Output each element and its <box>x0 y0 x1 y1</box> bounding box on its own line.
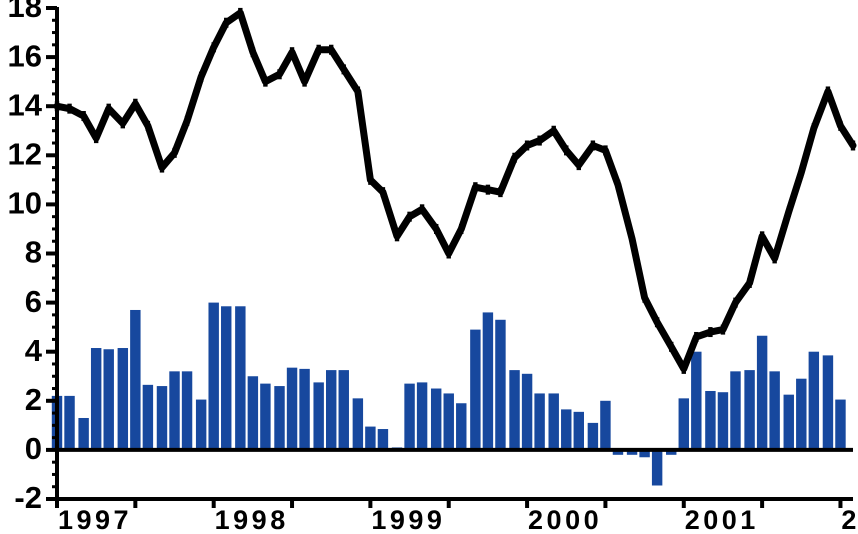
bar <box>235 306 245 450</box>
bar <box>378 429 388 450</box>
bar <box>404 384 414 450</box>
y-tick-label: 6 <box>25 284 42 319</box>
bar <box>365 427 375 450</box>
data-point-marker <box>211 42 215 52</box>
chart-canvas: -202468101214161819971998199920002001200… <box>0 0 858 534</box>
data-point-marker <box>55 101 59 111</box>
data-point-marker <box>577 160 581 170</box>
bar <box>561 409 571 450</box>
data-point-marker <box>251 47 255 57</box>
bar <box>274 386 284 450</box>
data-point-marker <box>263 77 267 87</box>
data-point-marker <box>81 111 85 121</box>
y-tick-label: 2 <box>25 382 42 417</box>
data-point-marker <box>787 207 791 217</box>
bar <box>705 391 715 450</box>
y-tick-label: 10 <box>8 186 42 221</box>
bar <box>287 368 297 450</box>
data-point-marker <box>133 99 137 109</box>
bar <box>470 330 480 450</box>
y-tick-label: 18 <box>8 0 42 24</box>
data-point-marker <box>420 204 424 214</box>
data-point-marker <box>616 180 620 190</box>
bar <box>339 370 349 450</box>
data-point-marker <box>459 224 463 234</box>
bar <box>417 382 427 450</box>
bar <box>730 371 740 450</box>
x-axis-ticks: 199719981999200020012002 <box>57 499 858 534</box>
bar <box>431 389 441 450</box>
data-point-marker <box>669 342 673 352</box>
data-point-marker <box>747 278 751 288</box>
bar <box>157 386 167 450</box>
bar <box>549 393 559 449</box>
y-tick-label: 8 <box>25 235 42 270</box>
data-point-marker <box>498 187 502 197</box>
x-tick-label: 2002 <box>841 505 858 534</box>
data-point-marker <box>799 167 803 177</box>
data-point-marker <box>160 163 164 173</box>
bar <box>326 370 336 450</box>
data-point-marker <box>238 8 242 18</box>
data-point-marker <box>564 145 568 155</box>
data-point-marker <box>826 86 830 96</box>
data-point-marker <box>486 185 490 195</box>
data-point-marker <box>199 72 203 82</box>
data-point-marker <box>812 123 816 133</box>
data-point-marker <box>224 18 228 28</box>
bar <box>299 369 309 450</box>
line-series <box>57 13 853 369</box>
data-point-marker <box>694 332 698 342</box>
data-point-marker <box>721 325 725 335</box>
data-point-marker <box>185 116 189 126</box>
data-point-marker <box>316 45 320 55</box>
bar <box>104 349 114 450</box>
x-tick-label: 1997 <box>58 505 132 534</box>
bar <box>600 401 610 450</box>
bar <box>809 352 819 450</box>
data-point-marker <box>277 69 281 79</box>
data-point-marker <box>434 224 438 234</box>
bar <box>744 370 754 450</box>
bar <box>444 393 454 449</box>
data-point-marker <box>172 148 176 158</box>
bar <box>78 418 88 450</box>
bar <box>835 400 845 450</box>
x-tick-label: 1998 <box>215 505 289 534</box>
data-point-marker <box>708 327 712 337</box>
bar <box>248 376 258 450</box>
bar <box>221 306 231 450</box>
y-tick-label: -2 <box>14 480 42 515</box>
data-point-marker <box>381 187 385 197</box>
y-tick-label: 14 <box>8 87 43 122</box>
bar <box>691 352 701 450</box>
bar <box>130 310 140 450</box>
data-point-marker <box>630 234 634 244</box>
y-tick-label: 12 <box>8 136 42 171</box>
y-tick-label: 4 <box>25 333 43 368</box>
data-point-marker <box>473 182 477 192</box>
bar <box>208 303 218 450</box>
data-point-marker <box>67 104 71 114</box>
bar <box>353 398 363 450</box>
data-point-marker <box>682 364 686 374</box>
data-point-marker <box>121 118 125 128</box>
data-point-marker <box>772 253 776 263</box>
y-tick-label: 16 <box>8 38 42 73</box>
bar <box>456 403 466 450</box>
bar <box>796 379 806 450</box>
data-point-marker <box>591 140 595 150</box>
data-point-marker <box>525 140 529 150</box>
data-point-marker <box>368 175 372 185</box>
economic-indicator-chart: -202468101214161819971998199920002001200… <box>0 0 858 534</box>
x-tick-label: 2000 <box>528 505 602 534</box>
bar <box>679 398 689 450</box>
data-point-marker <box>342 64 346 74</box>
bar <box>495 320 505 450</box>
data-point-marker <box>356 86 360 96</box>
data-point-marker <box>290 47 294 57</box>
data-point-marker <box>537 136 541 146</box>
bar <box>509 370 519 450</box>
bar <box>64 396 74 450</box>
bar <box>769 371 779 450</box>
bar <box>522 374 532 450</box>
bar <box>483 312 493 449</box>
x-tick-label: 1999 <box>371 505 445 534</box>
bar <box>574 412 584 450</box>
bar <box>182 371 192 450</box>
data-point-marker <box>407 212 411 222</box>
data-point-marker <box>395 231 399 241</box>
data-point-marker <box>838 121 842 131</box>
data-point-marker <box>642 293 646 303</box>
bar <box>718 392 728 450</box>
bar <box>757 336 767 450</box>
data-point-marker <box>302 77 306 87</box>
data-point-marker <box>603 145 607 155</box>
bar <box>534 393 544 449</box>
data-point-marker <box>94 133 98 143</box>
data-point-marker <box>733 298 737 308</box>
bar <box>588 423 598 450</box>
line-series-markers <box>55 8 855 374</box>
data-point-marker <box>655 317 659 327</box>
bar <box>784 395 794 450</box>
data-point-marker <box>760 231 764 241</box>
bar <box>169 371 179 450</box>
x-tick-label: 2001 <box>685 505 759 534</box>
data-point-marker <box>329 45 333 55</box>
bar <box>196 400 206 450</box>
bar <box>313 382 323 450</box>
data-point-marker <box>851 140 855 150</box>
y-tick-label: 0 <box>25 431 42 466</box>
data-point-marker <box>107 104 111 114</box>
bar <box>91 348 101 450</box>
data-point-marker <box>552 126 556 136</box>
bar <box>118 348 128 450</box>
bar <box>260 384 270 450</box>
data-point-marker <box>146 121 150 131</box>
data-point-marker <box>447 249 451 259</box>
bar <box>143 385 153 450</box>
bar <box>823 355 833 450</box>
data-point-marker <box>512 153 516 163</box>
y-axis-ticks: -2024681012141618 <box>8 0 57 515</box>
bar <box>652 450 662 486</box>
